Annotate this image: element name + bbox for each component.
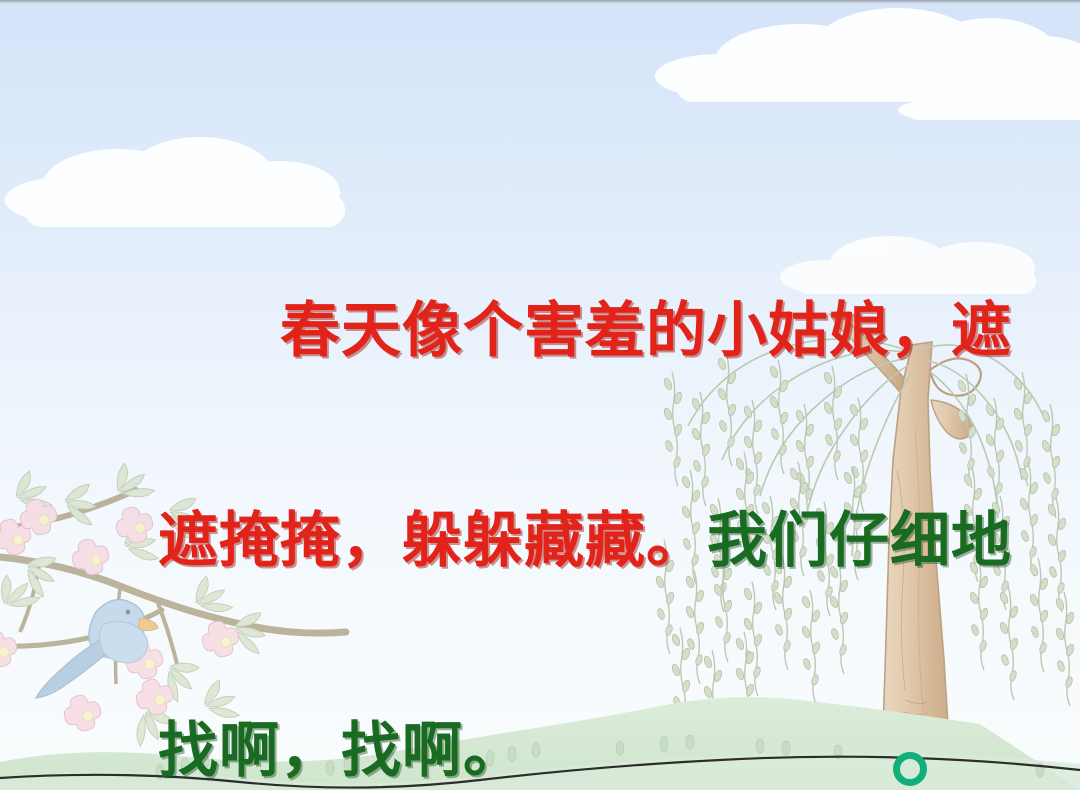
verse-line-1: 春天像个害羞的小姑娘，遮 — [62, 226, 1032, 436]
verse-line-3: 找啊，找啊。 — [62, 646, 1032, 810]
verse-text-block: 春天像个害羞的小姑娘，遮 遮掩掩，躲躲藏藏。我们仔细地 找啊，找啊。 — [62, 226, 1032, 810]
verse-line-2-red: 遮掩掩，躲躲藏藏。 — [158, 508, 707, 574]
slide-canvas: 春天像个害羞的小姑娘，遮 遮掩掩，躲躲藏藏。我们仔细地 找啊，找啊。 — [0, 0, 1080, 810]
verse-line-2-green: 我们仔细地 — [707, 508, 1012, 574]
bottom-white-strip — [0, 790, 1080, 810]
verse-line-2: 遮掩掩，躲躲藏藏。我们仔细地 — [62, 436, 1032, 646]
verse-line-3-green: 找啊，找啊。 — [158, 718, 524, 784]
verse-line-1-red: 春天像个害羞的小姑娘，遮 — [158, 298, 1012, 364]
